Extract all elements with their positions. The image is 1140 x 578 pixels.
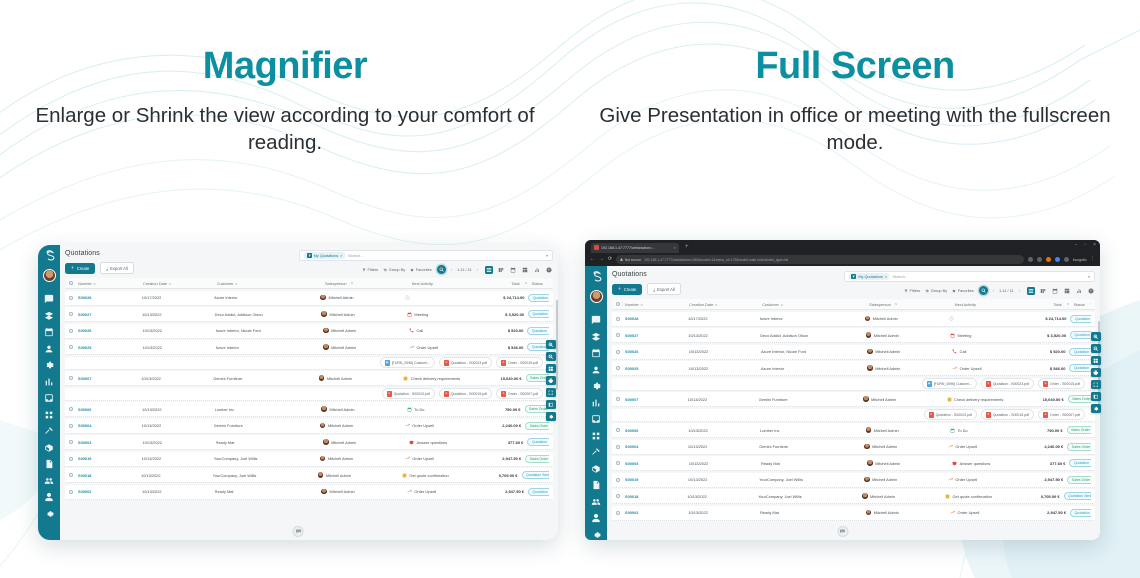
cell-total: 15,040.00 € <box>1043 397 1064 402</box>
row-checkbox[interactable] <box>616 478 625 482</box>
attachment-chip[interactable]: A Quotation - S00023.pdf <box>981 378 1034 389</box>
close-icon[interactable]: × <box>340 254 342 258</box>
cell-customer: Azure Interior <box>761 366 867 371</box>
cell-number[interactable]: S00018 <box>625 494 687 499</box>
close-icon[interactable]: × <box>1093 243 1096 248</box>
calendar-view-icon[interactable] <box>1051 287 1059 295</box>
table-row[interactable]: S00006 10/13/2022 Lumber Inc Mitchell Ad… <box>65 402 553 417</box>
create-button[interactable]: ＋Create <box>65 263 95 274</box>
table-row[interactable]: S00007 10/13/2022 Gemini Furniture Mitch… <box>65 371 553 386</box>
cell-total: 9,705.00 € <box>1041 494 1060 499</box>
column-header-total-status[interactable]: Total⇅ Status⇅ <box>511 281 549 286</box>
app-sidebar[interactable] <box>38 245 60 540</box>
magnifier-rail-left[interactable] <box>546 340 556 421</box>
cell-next-activity[interactable]: Order Upsell <box>405 423 503 428</box>
attachment-chip[interactable]: A Order - S00015.pdf <box>496 357 543 368</box>
attachment-chip[interactable]: A Order - S00015.pdf <box>1038 378 1085 389</box>
group-by-button[interactable]: Group By <box>925 288 947 293</box>
attachment-chip[interactable]: A Order - S00007.pdf <box>1038 409 1085 420</box>
sidebar-item-gear[interactable] <box>44 509 54 519</box>
cell-creation-date: 10/13/2022 <box>688 428 760 433</box>
sidebar-item-settings[interactable] <box>591 381 601 391</box>
attachment-chip[interactable]: ▣ [FURN_0096] Customi... <box>380 357 435 368</box>
sidebar-item-calendar[interactable] <box>44 327 54 337</box>
cell-creation-date: 10/13/2022 <box>142 407 215 412</box>
fullscreen-icon[interactable] <box>1091 380 1101 389</box>
view-switcher[interactable] <box>1027 287 1095 295</box>
cell-number[interactable]: S00026 <box>78 328 142 333</box>
table-row[interactable]: S00019 10/13/2022 YourCompany, Joel Will… <box>65 452 553 467</box>
attachment-chip[interactable]: A Order - S00007.pdf <box>496 388 543 399</box>
row-checkbox[interactable] <box>69 296 78 300</box>
sidebar-item-reporting[interactable] <box>44 377 54 387</box>
column-header-creation-date[interactable]: Creation Date⇅ <box>689 302 762 307</box>
filters-button[interactable]: Filters <box>362 267 378 272</box>
maximize-icon[interactable]: ▫ <box>1084 243 1086 248</box>
cell-total: 9,705.00 € <box>499 473 518 478</box>
cell-number[interactable]: S00004 <box>625 444 688 449</box>
pivot-view-icon[interactable] <box>521 266 529 274</box>
column-header-total-status[interactable]: Total⇅ Status⇅ <box>1053 302 1091 307</box>
cell-next-activity[interactable]: Order Upsell <box>948 477 1044 482</box>
activity-view-icon[interactable] <box>545 266 553 274</box>
table-row[interactable]: S00028 10/17/2022 Azure Interior Mitchel… <box>612 312 1095 327</box>
cell-creation-date: 10/13/2022 <box>142 345 215 350</box>
sidebar-toggle-icon[interactable] <box>1091 392 1101 401</box>
table-row[interactable]: S00004 10/13/2022 Gemini Furniture Mitch… <box>612 440 1095 455</box>
pdf-icon: A <box>501 360 506 366</box>
column-header-number[interactable]: Number⇅ <box>78 281 143 286</box>
cell-next-activity[interactable]: Order Upsell <box>952 366 1050 371</box>
sidebar-item-messages[interactable] <box>591 315 601 325</box>
sidebar-item-contacts[interactable] <box>44 344 54 354</box>
calendar-view-icon[interactable] <box>509 266 517 274</box>
cell-number[interactable]: S00028 <box>625 316 688 321</box>
cell-salesperson: Mitchell Admin <box>867 365 952 371</box>
todo-icon <box>950 428 955 433</box>
attachment-name: Quotation - S00023.pdf <box>993 382 1029 386</box>
column-header-next-activity[interactable]: Next Activity <box>412 281 512 286</box>
cell-number[interactable]: S00025 <box>78 345 142 350</box>
minimize-icon[interactable]: − <box>1074 243 1077 248</box>
back-icon[interactable]: ← <box>590 257 595 262</box>
cell-total-status: 750.00 € Sales Order <box>1047 426 1091 434</box>
cell-number[interactable]: S00027 <box>78 312 142 317</box>
chevron-down-icon[interactable]: ▾ <box>1088 274 1090 279</box>
table-row[interactable]: S00026 10/13/2022 Azure Interior, Nicole… <box>612 345 1095 360</box>
magnifier-button[interactable] <box>437 265 446 274</box>
avatar <box>320 456 326 462</box>
cell-total: $ 520.00 <box>1050 349 1066 354</box>
sidebar-toggle-icon[interactable] <box>546 400 556 409</box>
prev-page-button[interactable]: ‹ <box>451 267 452 272</box>
settings-icon[interactable] <box>1091 404 1101 413</box>
row-checkbox[interactable] <box>69 424 78 428</box>
column-header-salesperson[interactable]: Salesperson⇅ <box>869 302 955 307</box>
avatar <box>320 423 326 429</box>
row-checkbox[interactable] <box>616 428 625 432</box>
row-checkbox[interactable] <box>616 397 625 401</box>
search-input[interactable]: Search... <box>892 274 1085 279</box>
cell-next-activity[interactable]: Order Upsell <box>407 489 505 494</box>
row-checkbox[interactable] <box>616 511 625 515</box>
browser-chrome: 192.168.1.47:7777/web#action=... × + − ▫… <box>585 240 1100 266</box>
cell-customer: Azure Interior, Nicole Ford <box>761 349 867 354</box>
avatar <box>321 311 327 317</box>
attachment-chip[interactable]: A Quotation - S00023.pdf <box>924 409 977 420</box>
table-row[interactable]: S00019 10/13/2022 YourCompany, Joel Will… <box>612 473 1095 488</box>
attachment-chip[interactable]: A Quotation - S00015.pdf <box>981 409 1034 420</box>
avatar <box>323 328 329 334</box>
view-switcher[interactable] <box>485 266 553 274</box>
avatar <box>866 332 872 338</box>
extension-icon[interactable] <box>1055 257 1061 263</box>
cell-customer: Deco Addict, Addison Olson <box>215 312 322 317</box>
cell-next-activity[interactable]: Call <box>952 349 1050 354</box>
cell-number[interactable]: S00006 <box>78 407 142 412</box>
action-buttons: ＋Create ⤓Export All <box>612 283 681 295</box>
table-row[interactable]: S00027 10/13/2022 Deco Addict, Addison O… <box>65 307 553 322</box>
page-title: Quotations <box>65 250 134 257</box>
pivot-view-icon[interactable] <box>1063 287 1071 295</box>
cell-number[interactable]: S00004 <box>78 423 142 428</box>
cell-number[interactable]: S00007 <box>78 376 141 381</box>
cell-next-activity[interactable]: Get quote confirmation <box>945 494 1041 499</box>
next-page-button[interactable]: › <box>477 267 478 272</box>
pdf-icon: A <box>986 381 991 387</box>
table-row[interactable]: S00018 10/13/2022 YourCompany, Joel Will… <box>65 468 553 483</box>
avatar[interactable] <box>43 269 56 282</box>
attachment-chip[interactable]: ▣ [FURN_0096] Customi... <box>922 378 977 389</box>
cell-next-activity[interactable]: Call <box>409 328 508 333</box>
grid-icon[interactable] <box>1091 356 1101 365</box>
table-row[interactable]: S00003 10/13/2022 Ready Mat Mitchell Adm… <box>612 456 1095 471</box>
cell-total-status: 2,240.00 € Sales Order <box>502 422 549 430</box>
prev-page-button[interactable]: ‹ <box>993 288 994 293</box>
cell-number[interactable]: S00019 <box>78 456 142 461</box>
row-checkbox[interactable] <box>69 440 78 444</box>
meeting-icon <box>407 312 412 317</box>
row-checkbox[interactable] <box>69 312 78 316</box>
vertical-scrollbar[interactable] <box>556 300 558 390</box>
meeting-icon <box>950 333 955 338</box>
row-checkbox[interactable] <box>69 345 78 349</box>
cell-total: 2,947.50 € <box>505 489 524 494</box>
extension-icon[interactable] <box>1037 257 1043 263</box>
avatar <box>321 489 327 495</box>
sidebar-item-products[interactable] <box>44 443 54 453</box>
status-badge: Sales Order <box>525 422 549 430</box>
cell-next-activity[interactable]: Get quote confirmation <box>402 473 499 478</box>
cell-customer: Ready Mat <box>215 489 322 494</box>
status-badge: Quotation <box>1069 348 1091 356</box>
browser-actions[interactable]: Incognito ⋮ <box>1028 257 1095 263</box>
filters-button[interactable]: Filters <box>904 288 920 293</box>
table-row[interactable]: S00006 10/13/2022 Lumber Inc Mitchell Ad… <box>612 423 1095 438</box>
profile-avatar[interactable] <box>1064 257 1070 263</box>
row-checkbox[interactable] <box>616 350 625 354</box>
cell-next-activity[interactable] <box>949 316 1046 321</box>
cell-creation-date: 10/13/2022 <box>142 423 214 428</box>
sidebar-item-settings[interactable] <box>44 360 54 370</box>
cell-next-activity[interactable]: Order Upsell <box>950 510 1047 515</box>
table-row[interactable]: S00027 10/13/2022 Deco Addict, Addison O… <box>612 328 1095 343</box>
print-icon[interactable] <box>1091 368 1101 377</box>
status-badge: Quotation <box>1070 315 1091 323</box>
cell-next-activity[interactable]: Check delivery requirements <box>947 397 1043 402</box>
cell-total-status: 377.60 € Quotation <box>1050 459 1091 467</box>
row-checkbox[interactable] <box>69 376 78 380</box>
cell-creation-date: 10/13/2022 <box>688 510 760 515</box>
select-all-checkbox[interactable] <box>616 302 625 306</box>
sidebar-item-tools[interactable] <box>44 426 54 436</box>
sidebar-item-products[interactable] <box>591 464 601 474</box>
magnifier-button[interactable] <box>979 286 988 295</box>
cell-total: $ 546.00 <box>1050 366 1066 371</box>
cell-number[interactable]: S00003 <box>78 440 142 445</box>
cell-number[interactable]: S00027 <box>625 333 688 338</box>
url-input[interactable]: Not secure 192.168.1.47:7777/web#action=… <box>616 255 1024 264</box>
new-tab-icon[interactable]: + <box>685 244 689 250</box>
window-controls[interactable]: − ▫ × <box>1074 243 1096 248</box>
table-row[interactable]: S00028 10/17/2022 Azure Interior Mitchel… <box>65 291 553 306</box>
cell-next-activity[interactable]: Answer questions <box>409 440 508 445</box>
cell-number[interactable]: S00028 <box>78 295 142 300</box>
cell-total: $ 3,520.00 <box>505 312 524 317</box>
chevron-down-icon[interactable]: ▾ <box>546 253 548 258</box>
cell-number[interactable]: S00019 <box>625 477 688 482</box>
view-controls: Filters Group By Favorites ‹ 1-11 / 11 › <box>844 286 1095 295</box>
avatar[interactable] <box>590 290 603 303</box>
favorites-button[interactable]: Favorites <box>952 288 974 293</box>
cell-total: 2,947.50 € <box>1047 510 1066 515</box>
sidebar-item-customers[interactable] <box>44 476 54 486</box>
table-row[interactable]: S00002 10/13/2022 Ready Mat Mitchell Adm… <box>612 506 1095 521</box>
sidebar-item-activity[interactable] <box>591 332 601 342</box>
cell-total: $ 546.00 <box>508 345 524 350</box>
magnifier-rail-right[interactable] <box>1091 332 1101 413</box>
cell-salesperson: Mitchell Admin <box>319 375 404 381</box>
row-checkbox[interactable] <box>69 490 78 494</box>
row-checkbox[interactable] <box>616 445 625 449</box>
kanban-view-icon[interactable] <box>497 266 505 274</box>
menu-icon[interactable]: ⋮ <box>1090 257 1095 262</box>
cell-next-activity[interactable]: Answer questions <box>952 461 1050 466</box>
kanban-view-icon[interactable] <box>1039 287 1047 295</box>
column-header-creation-date[interactable]: Creation Date⇅ <box>143 281 217 286</box>
sidebar-item-activity[interactable] <box>44 311 54 321</box>
plus-icon: ＋ <box>618 286 622 292</box>
row-checkbox[interactable] <box>616 494 625 498</box>
row-checkbox[interactable] <box>616 461 625 465</box>
cell-next-activity[interactable]: Meeting <box>407 312 505 317</box>
sidebar-item-contacts[interactable] <box>591 365 601 375</box>
column-header-customer[interactable]: Customer⇅ <box>217 281 325 286</box>
sidebar-item-apps[interactable] <box>591 431 601 441</box>
create-label: Create <box>77 266 90 271</box>
zoom-out-icon[interactable] <box>546 352 556 361</box>
cell-total-status: 377.60 € Quotation <box>508 438 549 446</box>
print-icon[interactable] <box>546 376 556 385</box>
cell-number[interactable]: S00003 <box>625 461 689 466</box>
table-row[interactable]: S00002 10/13/2022 Ready Mat Mitchell Adm… <box>65 485 553 500</box>
cell-number[interactable]: S00002 <box>78 489 142 494</box>
cell-customer: YourCompany, Joel Willis <box>214 456 320 461</box>
cell-number[interactable]: S00002 <box>625 510 688 515</box>
panel-heading-fullscreen: Full Screen Give Presentation in office … <box>570 0 1140 200</box>
column-header-next-activity[interactable]: Next Activity <box>955 302 1054 307</box>
search-facet[interactable]: My Quotations × <box>849 273 890 280</box>
row-checkbox[interactable] <box>69 407 78 411</box>
fullscreen-icon[interactable] <box>546 388 556 397</box>
export-all-button[interactable]: ⤓Export All <box>647 283 682 295</box>
close-icon[interactable]: × <box>674 245 676 250</box>
row-checkbox[interactable] <box>616 333 625 337</box>
row-checkbox[interactable] <box>69 329 78 333</box>
pdf-icon: A <box>1043 381 1048 387</box>
sidebar-item-invoices[interactable] <box>44 459 54 469</box>
search-bar[interactable]: My Quotations × Search... ▾ <box>299 250 553 261</box>
sidebar-item-employees[interactable] <box>44 492 54 502</box>
cell-salesperson: Mitchell Admin <box>863 396 947 402</box>
cell-total: $ 520.00 <box>508 328 524 333</box>
cell-creation-date: 10/13/2022 <box>142 328 215 333</box>
sidebar-item-calendar[interactable] <box>591 348 601 358</box>
table-row[interactable]: S00018 10/13/2022 YourCompany, Joel Will… <box>612 489 1095 504</box>
sidebar-item-inbox[interactable] <box>591 414 601 424</box>
select-all-checkbox[interactable] <box>69 281 78 285</box>
cell-total-status: 2,947.50 € Quotation <box>505 488 549 496</box>
zoom-out-icon[interactable] <box>1091 344 1101 353</box>
attachment-row: A Quotation - S00023.pdf A Quotation - S… <box>65 388 553 401</box>
sidebar-item-messages[interactable] <box>44 294 54 304</box>
cell-next-activity[interactable]: Check delivery requirements <box>403 376 500 381</box>
status-badge: Sales Order <box>1068 395 1091 403</box>
create-button[interactable]: ＋Create <box>612 284 642 295</box>
cell-next-activity[interactable]: To Do <box>950 428 1047 433</box>
grid-icon[interactable] <box>546 364 556 373</box>
table-row[interactable]: S00026 10/13/2022 Azure Interior, Nicole… <box>65 324 553 339</box>
cell-total-status: 15,040.00 € Sales Order <box>501 374 550 382</box>
column-header-customer[interactable]: Customer⇅ <box>762 302 869 307</box>
search-bar[interactable]: My Quotations × Search... ▾ <box>844 271 1095 282</box>
table-row[interactable]: S00004 10/13/2022 Gemini Furniture Mitch… <box>65 419 553 434</box>
cell-creation-date: 10/13/2022 <box>688 477 759 482</box>
cell-customer: Azure Interior <box>214 295 320 300</box>
status-badge: Sales Order <box>1067 476 1091 484</box>
row-checkbox[interactable] <box>69 473 78 477</box>
panel-title: Magnifier <box>0 46 570 88</box>
graph-view-icon[interactable] <box>533 266 541 274</box>
column-header-salesperson[interactable]: Salesperson⇅ <box>325 281 412 286</box>
table-row[interactable]: S00025 10/13/2022 Azure Interior Mitchel… <box>65 340 553 355</box>
settings-icon[interactable] <box>546 412 556 421</box>
attachment-chip[interactable]: A Quotation - S00023.pdf <box>382 388 435 399</box>
table-header-row: Number⇅ Creation Date⇅ Customer⇅ Salespe… <box>65 278 553 289</box>
row-checkbox[interactable] <box>616 366 625 370</box>
attachment-chip[interactable]: A Quotation - S00015.pdf <box>439 388 492 399</box>
reload-icon[interactable]: ⟳ <box>608 257 612 262</box>
cell-creation-date: 10/13/2022 <box>687 494 758 499</box>
extension-icon[interactable] <box>1046 257 1052 263</box>
activity-view-icon[interactable] <box>1087 287 1095 295</box>
bookmark-icon[interactable] <box>1028 257 1034 263</box>
sidebar-item-gear[interactable] <box>591 530 601 540</box>
control-panel: Quotations ＋Create ⤓Export All My Quotat… <box>612 271 1095 295</box>
sidebar-item-employees[interactable] <box>591 513 601 523</box>
cell-total-status: 2,947.50 € Sales Order <box>1044 476 1091 484</box>
zoom-in-icon[interactable] <box>1091 332 1101 341</box>
table-row[interactable]: S00025 10/13/2022 Azure Interior Mitchel… <box>612 361 1095 376</box>
table-row[interactable]: S00003 10/13/2022 Ready Mat Mitchell Adm… <box>65 435 553 450</box>
quotations-table[interactable]: Number⇅ Creation Date⇅ Customer⇅ Salespe… <box>612 299 1095 540</box>
app-sidebar[interactable] <box>585 266 607 540</box>
cell-next-activity[interactable] <box>405 295 503 300</box>
sidebar-item-inbox[interactable] <box>44 393 54 403</box>
browser-tab-title: 192.168.1.47:7777/web#action=... <box>601 246 655 250</box>
cell-next-activity[interactable]: Order Upsell <box>405 456 503 461</box>
table-row[interactable]: S00007 10/13/2022 Gemini Furniture Mitch… <box>612 392 1095 407</box>
list-view-icon[interactable] <box>485 266 493 274</box>
sidebar-item-reporting[interactable] <box>591 398 601 408</box>
export-label: Export All <box>657 287 675 292</box>
chat-icon[interactable] <box>837 526 848 537</box>
sidebar-item-apps[interactable] <box>44 410 54 420</box>
cell-number[interactable]: S00025 <box>625 366 689 371</box>
cell-number[interactable]: S00007 <box>625 397 688 402</box>
close-icon[interactable]: × <box>885 275 887 279</box>
next-page-button[interactable]: › <box>1019 288 1020 293</box>
quotations-table[interactable]: Number⇅ Creation Date⇅ Customer⇅ Salespe… <box>65 278 553 540</box>
chat-icon[interactable] <box>293 526 304 537</box>
zoom-in-icon[interactable] <box>546 340 556 349</box>
sidebar-item-invoices[interactable] <box>591 480 601 490</box>
action-buttons: ＋Create ⤓Export All <box>65 262 134 274</box>
cell-next-activity[interactable]: To Do <box>407 407 505 412</box>
cell-next-activity[interactable]: Order Upsell <box>948 444 1044 449</box>
group-by-button[interactable]: Group By <box>383 267 405 272</box>
row-checkbox[interactable] <box>69 457 78 461</box>
search-facet[interactable]: My Quotations × <box>304 252 345 259</box>
column-header-number[interactable]: Number⇅ <box>625 302 689 307</box>
graph-view-icon[interactable] <box>1075 287 1083 295</box>
company-logo-icon[interactable] <box>589 270 604 285</box>
cell-number[interactable]: S00006 <box>625 428 688 433</box>
sidebar-item-tools[interactable] <box>591 447 601 457</box>
cell-next-activity[interactable]: Order Upsell <box>409 345 508 350</box>
list-view-icon[interactable] <box>1027 287 1035 295</box>
cell-number[interactable]: S00018 <box>78 473 141 478</box>
panel-heading-magnifier: Magnifier Enlarge or Shrink the view acc… <box>0 0 570 200</box>
avatar <box>864 477 870 483</box>
browser-tab[interactable]: 192.168.1.47:7777/web#action=... × <box>591 243 679 254</box>
attachment-chip[interactable]: A Quotation - S00023.pdf <box>439 357 492 368</box>
status-badge: Quotation <box>1069 459 1091 467</box>
headings-row: Magnifier Enlarge or Shrink the view acc… <box>0 0 1140 200</box>
search-input[interactable]: Search... <box>348 253 543 258</box>
status-badge: Quotation <box>527 327 549 335</box>
note-icon <box>403 376 408 381</box>
cell-number[interactable]: S00026 <box>625 349 689 354</box>
favorites-button[interactable]: Favorites <box>410 267 432 272</box>
sidebar-item-customers[interactable] <box>591 497 601 507</box>
company-logo-icon[interactable] <box>42 249 57 264</box>
forward-icon[interactable]: → <box>599 257 604 262</box>
row-checkbox[interactable] <box>616 317 625 321</box>
cell-salesperson: Mitchell Admin <box>866 510 950 516</box>
cell-next-activity[interactable]: Meeting <box>950 333 1047 338</box>
export-all-button[interactable]: ⤓Export All <box>100 262 135 274</box>
